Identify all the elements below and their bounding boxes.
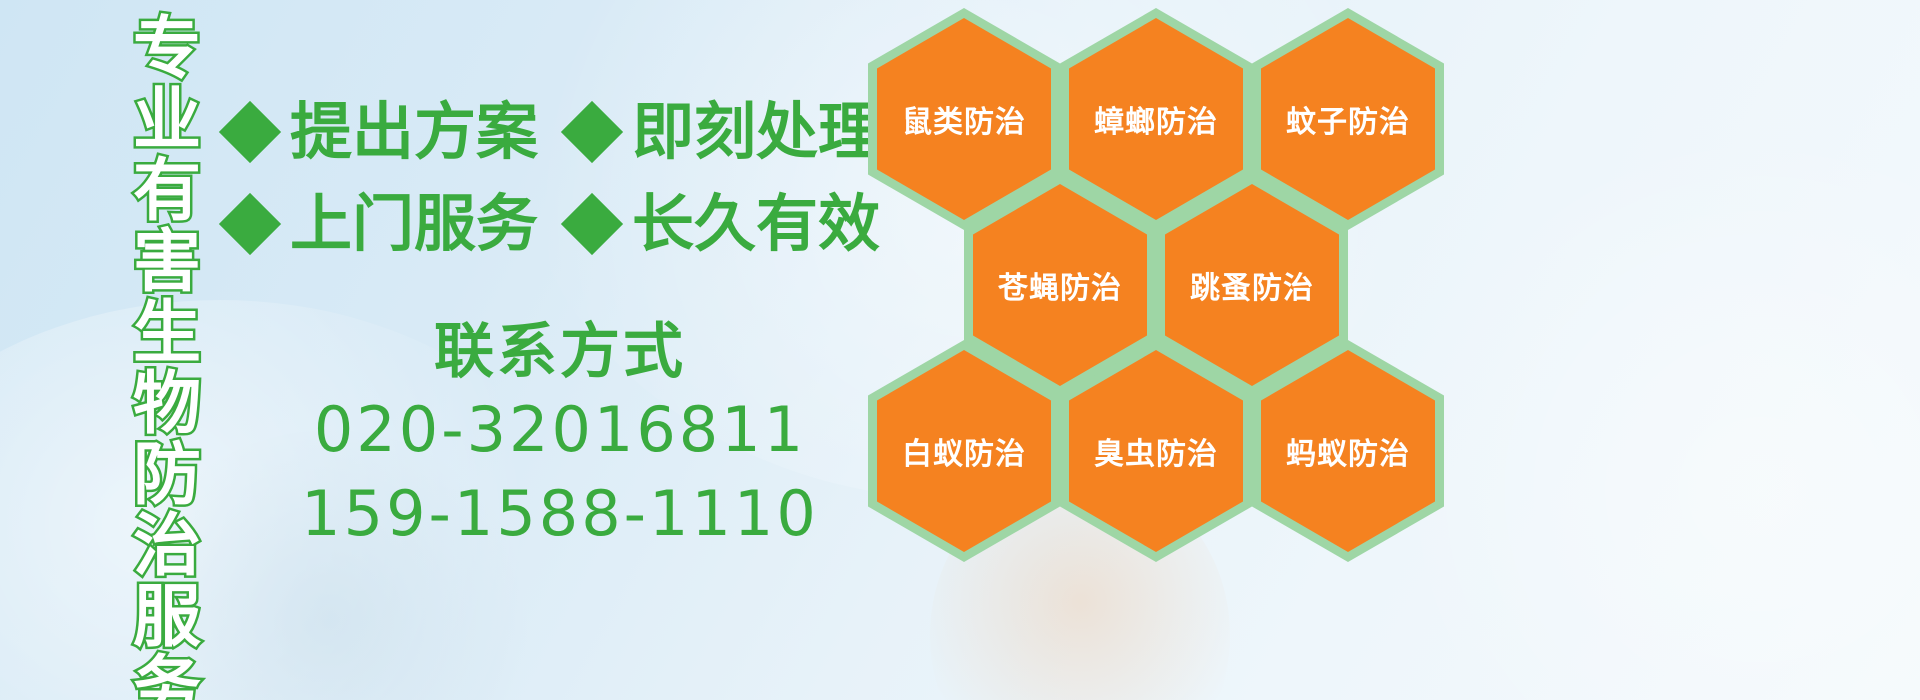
service-hexagon-grid: 鼠类防治 蟑螂防治 蚊子防治 苍蝇防治 跳蚤防治 白蚁防治 臭虫防治 蚂蚁 [862, 0, 1462, 560]
vertical-headline-char: 有 [133, 156, 201, 227]
service-label: 臭虫防治 [1094, 429, 1218, 473]
vertical-headline-char: 生 [133, 298, 201, 369]
feature-label: 长久有效 [632, 191, 880, 257]
service-label: 蚂蚁防治 [1286, 429, 1410, 473]
service-label: 蚊子防治 [1286, 97, 1410, 141]
diamond-bullet-icon [219, 101, 281, 163]
vertical-headline-char: 业 [133, 85, 201, 156]
feature-row: 提出方案 即刻处理 [228, 86, 868, 178]
contact-title: 联系方式 [250, 316, 870, 388]
pest-control-banner: 专 业 有 害 生 物 防 治 服 务 提出方案 即刻处理 上门服务 长久有效 … [0, 0, 1920, 700]
service-label: 鼠类防治 [902, 97, 1026, 141]
feature-label: 上门服务 [290, 191, 538, 257]
feature-label: 即刻处理 [632, 99, 880, 165]
service-label: 苍蝇防治 [998, 263, 1122, 307]
contact-block: 联系方式 020-32016811 159-1588-1110 [250, 316, 870, 556]
service-label: 蟑螂防治 [1094, 97, 1218, 141]
feature-row: 上门服务 长久有效 [228, 178, 868, 270]
vertical-headline-char: 务 [133, 653, 201, 700]
feature-list: 提出方案 即刻处理 上门服务 长久有效 [228, 86, 868, 270]
service-label: 跳蚤防治 [1190, 263, 1314, 307]
service-label: 白蚁防治 [902, 429, 1026, 473]
diamond-bullet-icon [561, 193, 623, 255]
vertical-headline-char: 治 [133, 511, 201, 582]
vertical-headline: 专 业 有 害 生 物 防 治 服 务 [108, 14, 226, 674]
vertical-headline-char: 专 [133, 14, 201, 85]
diamond-bullet-icon [219, 193, 281, 255]
vertical-headline-char: 防 [133, 440, 201, 511]
phone-landline[interactable]: 020-32016811 [250, 388, 870, 472]
diamond-bullet-icon [561, 101, 623, 163]
phone-mobile[interactable]: 159-1588-1110 [250, 472, 870, 556]
vertical-headline-char: 害 [133, 227, 201, 298]
vertical-headline-char: 物 [133, 369, 201, 440]
feature-label: 提出方案 [290, 99, 538, 165]
vertical-headline-char: 服 [133, 582, 201, 653]
